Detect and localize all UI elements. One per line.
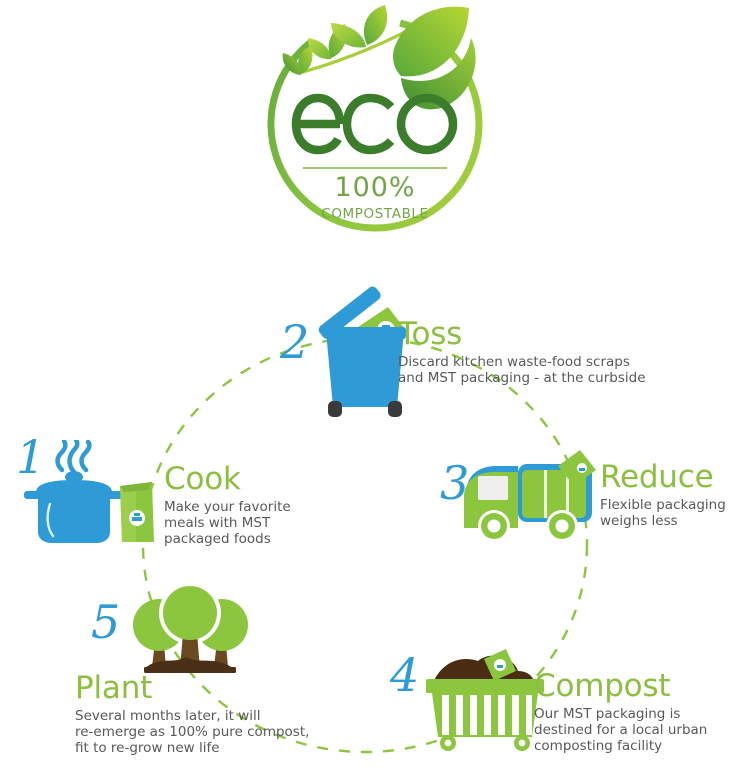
- step-reduce: 3: [440, 440, 750, 560]
- step-toss: 2 Toss Discard kitchen waste-food scraps…: [280, 283, 700, 433]
- garbage-truck-icon: [458, 448, 598, 548]
- trees-icon: [130, 585, 250, 677]
- infographic-canvas: 100% COMPOSTABLE 2: [0, 0, 750, 779]
- step-plant: 5 Plant Several months l: [75, 585, 375, 779]
- step-cook-title: Cook: [164, 464, 291, 495]
- step-reduce-description: Flexible packaging weighs less: [600, 498, 726, 530]
- step-reduce-text: Reduce Flexible packaging weighs less: [600, 462, 726, 530]
- step-cook-description: Make your favorite meals with MST packag…: [164, 500, 291, 548]
- compost-bin-icon: [420, 645, 550, 755]
- step-toss-description: Discard kitchen waste-food scraps and MS…: [398, 355, 646, 387]
- step-toss-number: 2: [280, 319, 308, 365]
- step-compost-title: Compost: [534, 671, 707, 702]
- step-cook-text: Cook Make your favorite meals with MST p…: [164, 464, 291, 548]
- step-plant-title: Plant: [75, 673, 309, 704]
- step-compost-number: 4: [390, 652, 418, 698]
- badge-percent: 100%: [334, 172, 415, 203]
- step-toss-title: Toss: [398, 319, 646, 350]
- step-plant-text: Plant Several months later, it will re-e…: [75, 673, 309, 757]
- step-reduce-title: Reduce: [600, 462, 726, 493]
- step-toss-text: Toss Discard kitchen waste-food scraps a…: [398, 319, 646, 387]
- step-compost: 4: [390, 645, 750, 779]
- cooking-pot-icon: [24, 440, 164, 550]
- step-compost-description: Our MST packaging is destined for a loca…: [534, 707, 707, 755]
- step-compost-text: Compost Our MST packaging is destined fo…: [534, 671, 707, 755]
- step-cook: 1: [12, 432, 342, 562]
- leaf-branch-icon: [283, 5, 476, 109]
- eco-compostable-badge: 100% COMPOSTABLE: [255, 2, 495, 242]
- step-plant-number: 5: [91, 599, 119, 645]
- step-plant-description: Several months later, it will re-emerge …: [75, 709, 309, 757]
- badge-subtitle: COMPOSTABLE: [321, 206, 428, 222]
